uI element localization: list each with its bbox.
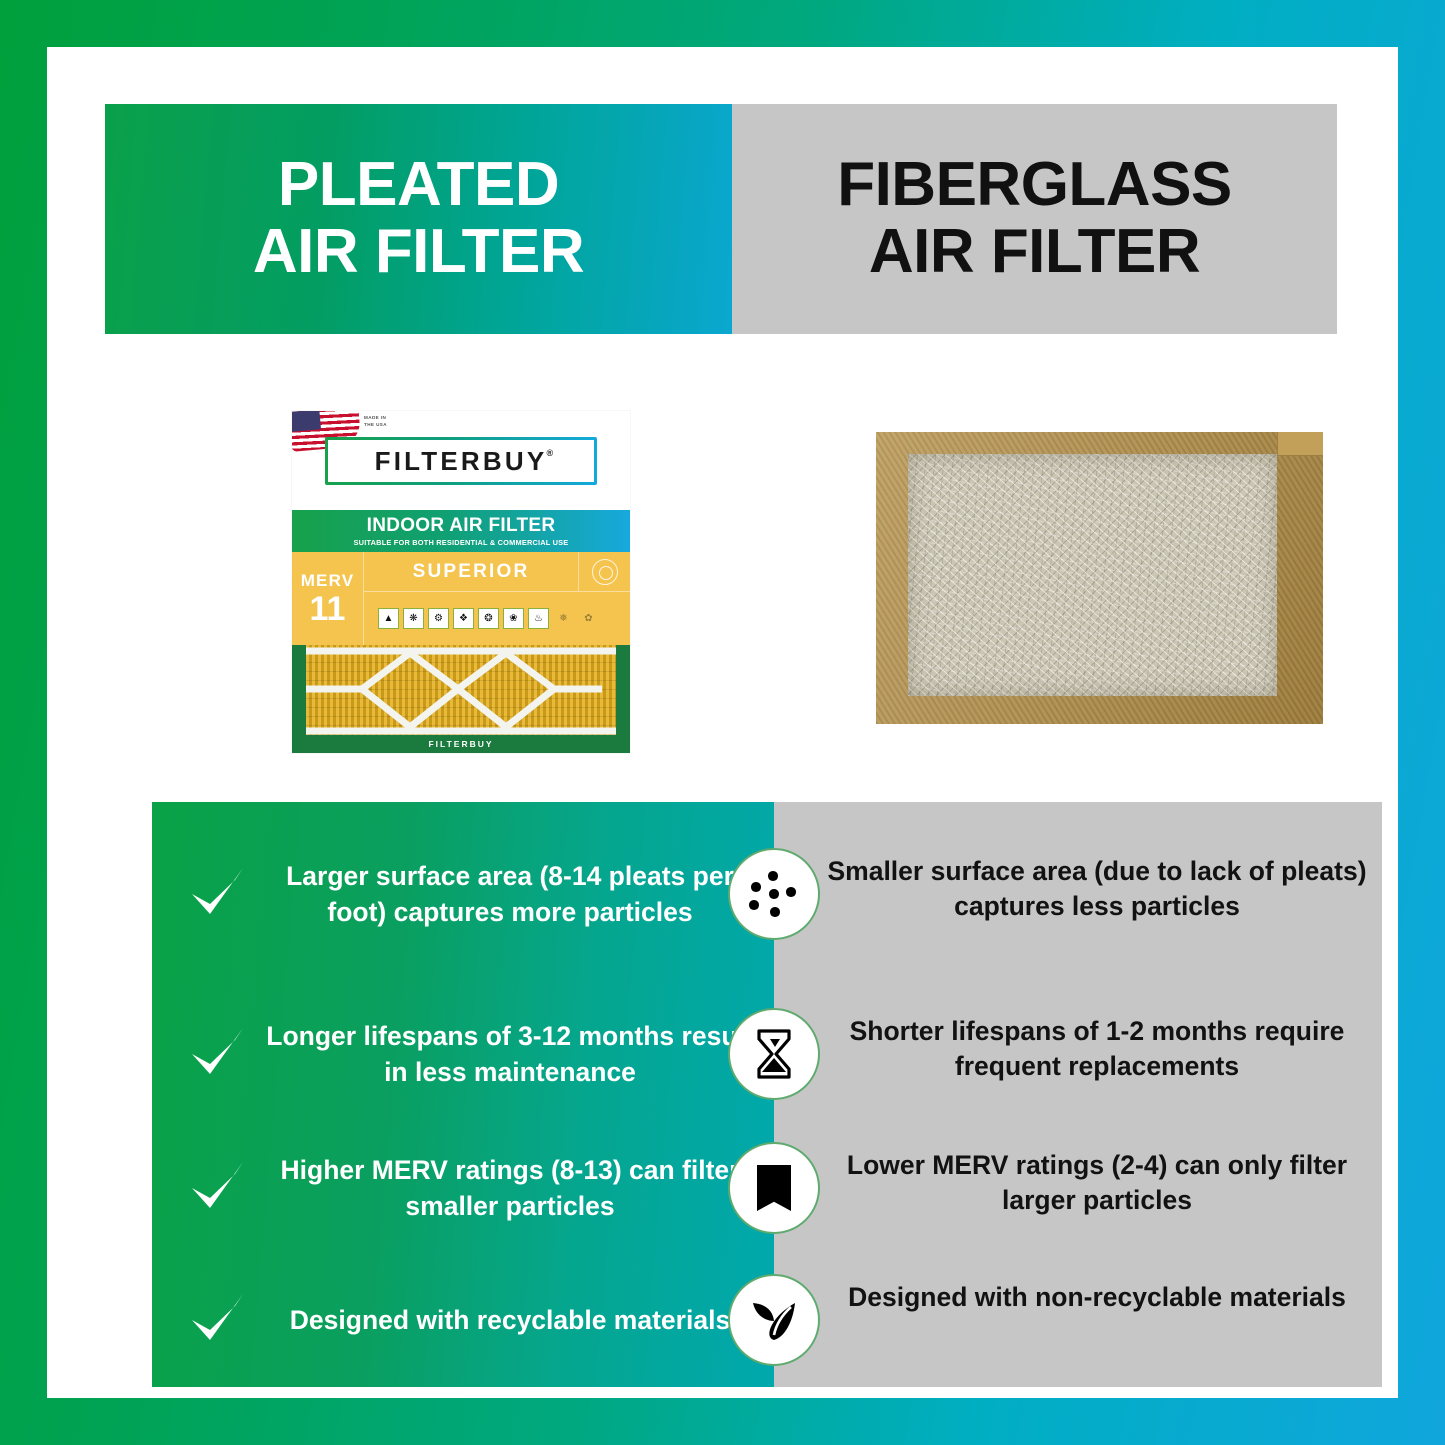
header-fiberglass-line1: FIBERGLASS xyxy=(837,152,1232,219)
checkmark-icon xyxy=(186,864,248,926)
row-3-right-text: Lower MERV ratings (2-4) can only filter… xyxy=(812,1148,1382,1218)
band-subtitle: SUITABLE FOR BOTH RESIDENTIAL & COMMERCI… xyxy=(292,538,630,547)
checkmark-icon xyxy=(186,1290,248,1352)
fiberglass-filter-product-image xyxy=(876,432,1323,724)
fiberglass-mesh-texture xyxy=(908,454,1277,696)
pleated-filter-product-image: MADE INTHE USA FILTERBUY® INDOOR AIR FIL… xyxy=(292,411,630,753)
header-fiberglass-title: FIBERGLASS AIR FILTER xyxy=(837,152,1232,286)
particle-dot xyxy=(770,907,780,917)
odor-icon-disabled: ❅ xyxy=(553,608,574,629)
leaf-glyph xyxy=(749,1295,799,1345)
tier-label: SUPERIOR xyxy=(364,552,578,591)
header-fiberglass: FIBERGLASS AIR FILTER xyxy=(732,104,1337,334)
header-pleated-line1: PLEATED xyxy=(253,152,584,219)
row-2-right-text: Shorter lifespans of 1-2 months require … xyxy=(812,1014,1382,1084)
made-in-usa-text: MADE INTHE USA xyxy=(364,415,387,429)
merv-column: MERV 11 xyxy=(292,552,364,645)
header-pleated: PLEATED AIR FILTER xyxy=(105,104,732,334)
particle-dot xyxy=(786,887,796,897)
headers-row: PLEATED AIR FILTER FIBERGLASS AIR FILTER xyxy=(105,104,1337,334)
smoke-icon: ♨ xyxy=(528,608,549,629)
merv-value: 11 xyxy=(310,593,346,625)
pleated-media-area: FILTERBUY xyxy=(292,645,630,753)
header-fiberglass-line2: AIR FILTER xyxy=(837,219,1232,286)
merv-details: SUPERIOR ▲ ❋ ⚙ ❖ ❂ ❀ ♨ ❅ ✿ xyxy=(364,552,630,645)
bookmark-glyph xyxy=(757,1165,791,1211)
particle-dot xyxy=(751,882,761,892)
virus-icon: ⚙ xyxy=(428,608,449,629)
comparison-row-3: Higher MERV ratings (8-13) can filter sm… xyxy=(152,1122,1382,1255)
hourglass-glyph xyxy=(754,1028,794,1080)
seal-ring-icon xyxy=(592,559,618,585)
capability-icons-row: ▲ ❋ ⚙ ❖ ❂ ❀ ♨ ❅ ✿ xyxy=(364,592,630,645)
particle-dot xyxy=(749,900,759,910)
pleated-footer-brand: FILTERBUY xyxy=(292,735,630,753)
pleated-label-top: MADE INTHE USA FILTERBUY® xyxy=(292,411,630,510)
particle-dot xyxy=(769,889,779,899)
row-2-left-cell: Longer lifespans of 3-12 months result i… xyxy=(152,1019,774,1089)
band-title: INDOOR AIR FILTER xyxy=(292,515,630,537)
row-3-left-text: Higher MERV ratings (8-13) can filter sm… xyxy=(264,1153,774,1223)
cardboard-frame-notch xyxy=(1277,432,1323,456)
filterbuy-wordmark: FILTERBUY® xyxy=(375,446,548,477)
particle-dots xyxy=(748,868,800,920)
row-1-right-text: Smaller surface area (due to lack of ple… xyxy=(812,854,1382,924)
particle-dot xyxy=(768,871,778,881)
row-4-left-cell: Designed with recyclable materials xyxy=(152,1290,774,1352)
leaf-icon xyxy=(728,1274,820,1366)
certification-seal xyxy=(578,552,630,591)
product-images-row: MADE INTHE USA FILTERBUY® INDOOR AIR FIL… xyxy=(105,334,1337,752)
pollen-icon: ❂ xyxy=(478,608,499,629)
bacteria-icon: ❖ xyxy=(453,608,474,629)
infographic-card: PLEATED AIR FILTER FIBERGLASS AIR FILTER… xyxy=(47,47,1398,1398)
comparison-row-2: Longer lifespans of 3-12 months result i… xyxy=(152,987,1382,1122)
row-4-left-text: Designed with recyclable materials xyxy=(264,1303,774,1338)
checkmark-icon xyxy=(186,1158,248,1220)
allergen-icon-disabled: ✿ xyxy=(578,608,599,629)
pet-dander-icon: ❀ xyxy=(503,608,524,629)
tier-row: SUPERIOR xyxy=(364,552,630,592)
dust-icon: ▲ xyxy=(378,608,399,629)
row-1-left-cell: Larger surface area (8-14 pleats per foo… xyxy=(152,859,774,929)
checkmark-icon xyxy=(186,1024,248,1086)
row-3-left-cell: Higher MERV ratings (8-13) can filter sm… xyxy=(152,1153,774,1223)
filterbuy-logo-inner: FILTERBUY® xyxy=(328,440,594,482)
row-1-left-text: Larger surface area (8-14 pleats per foo… xyxy=(264,859,774,929)
filterbuy-brand-text: FILTERBUY xyxy=(375,446,548,476)
bookmark-icon xyxy=(728,1142,820,1234)
header-pleated-title: PLEATED AIR FILTER xyxy=(253,152,584,286)
insect-icon: ❋ xyxy=(403,608,424,629)
registered-trademark-icon: ® xyxy=(547,448,557,458)
merv-label: MERV xyxy=(301,571,355,591)
row-4-right-text: Designed with non-recyclable materials xyxy=(812,1280,1382,1315)
hourglass-icon xyxy=(728,1008,820,1100)
filterbuy-logo-box: FILTERBUY® xyxy=(325,437,597,485)
merv-rating-panel: MERV 11 SUPERIOR ▲ ❋ ⚙ ❖ ❂ xyxy=(292,552,630,645)
comparison-row-1: Larger surface area (8-14 pleats per foo… xyxy=(152,802,1382,987)
row-2-left-text: Longer lifespans of 3-12 months result i… xyxy=(264,1019,774,1089)
header-pleated-line2: AIR FILTER xyxy=(253,219,584,286)
particles-icon xyxy=(728,848,820,940)
comparison-row-4: Designed with recyclable materials Desig… xyxy=(152,1255,1382,1387)
indoor-air-filter-band: INDOOR AIR FILTER SUITABLE FOR BOTH RESI… xyxy=(292,510,630,552)
comparison-table: Larger surface area (8-14 pleats per foo… xyxy=(152,802,1382,1387)
